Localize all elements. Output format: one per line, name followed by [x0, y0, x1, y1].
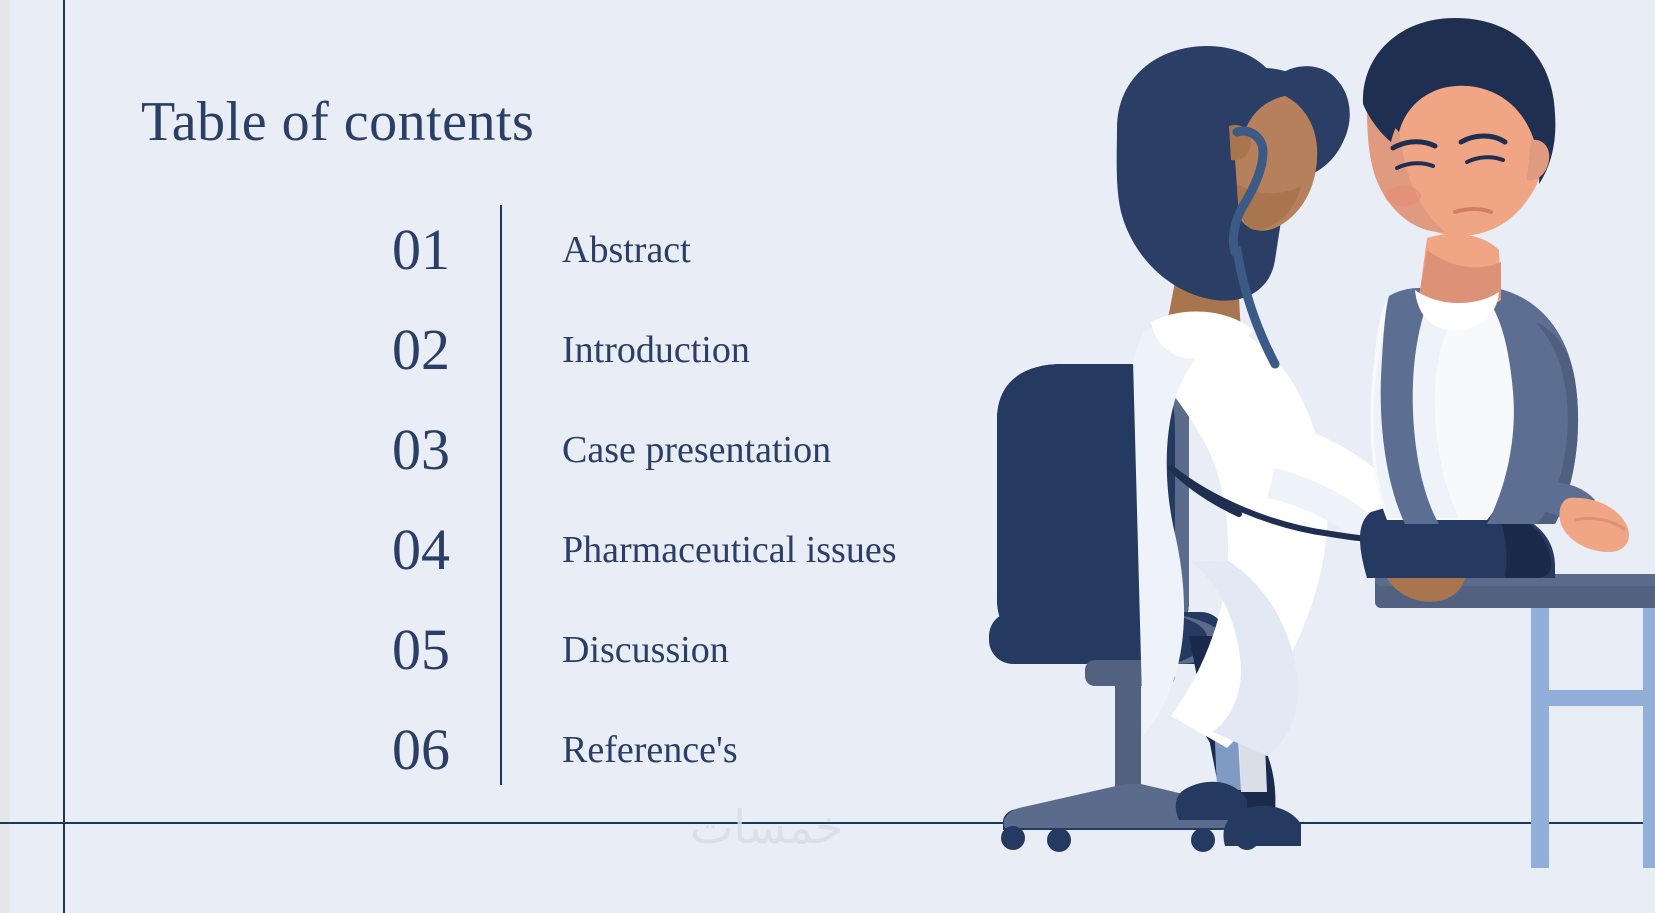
toc-item-label: Reference's	[562, 700, 738, 800]
list-item[interactable]: 03 Case presentation	[330, 400, 1030, 500]
toc-item-number: 04	[330, 500, 450, 600]
toc-item-number: 02	[330, 300, 450, 400]
toc-item-number: 06	[330, 700, 450, 800]
toc-item-number: 05	[330, 600, 450, 700]
toc-item-label: Introduction	[562, 300, 750, 400]
list-item[interactable]: 04 Pharmaceutical issues	[330, 500, 1030, 600]
toc-item-number: 01	[330, 200, 450, 300]
page-title: Table of contents	[141, 90, 534, 154]
slide-canvas: Table of contents 01 Abstract 02 Introdu…	[0, 0, 1655, 913]
toc-item-label: Discussion	[562, 600, 729, 700]
toc-item-label: Abstract	[562, 200, 691, 300]
toc-item-label: Pharmaceutical issues	[562, 500, 897, 600]
list-item[interactable]: 06 Reference's	[330, 700, 1030, 800]
table-of-contents-list: 01 Abstract 02 Introduction 03 Case pres…	[330, 200, 1030, 800]
left-margin-band	[0, 0, 10, 913]
watermark-text: خمسات	[690, 800, 843, 854]
doctor-patient-illustration	[975, 0, 1655, 913]
patient-figure	[1360, 18, 1629, 578]
list-item[interactable]: 02 Introduction	[330, 300, 1030, 400]
list-item[interactable]: 01 Abstract	[330, 200, 1030, 300]
toc-item-number: 03	[330, 400, 450, 500]
list-item[interactable]: 05 Discussion	[330, 600, 1030, 700]
exam-bench	[1375, 574, 1655, 868]
vertical-rule	[63, 0, 65, 913]
toc-item-label: Case presentation	[562, 400, 831, 500]
